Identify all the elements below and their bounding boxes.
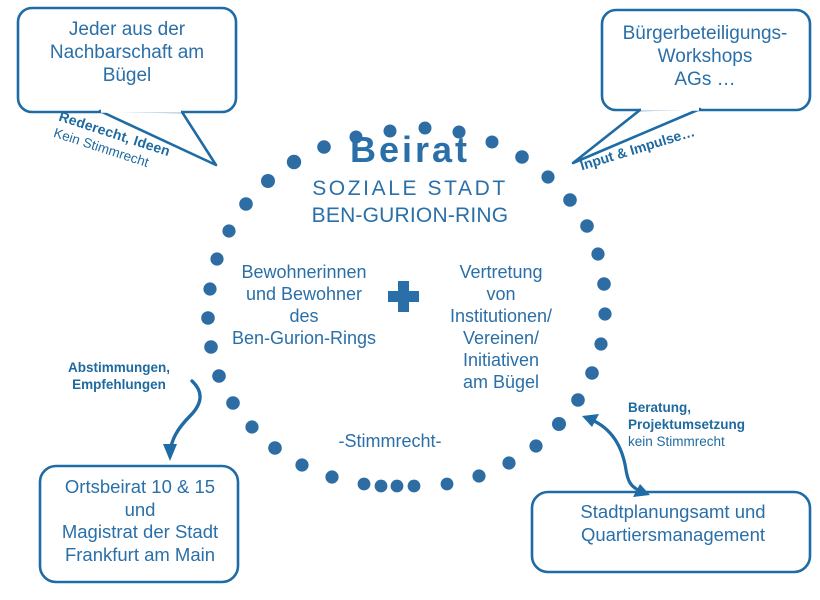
relation-label-bottom-right: Beratung, Projektumsetzung kein Stimmrec… bbox=[628, 400, 804, 451]
page-title: Beirat bbox=[250, 128, 570, 172]
callout-bottom-right-label: Stadtplanungsamt und Quartiersmanagement bbox=[538, 501, 808, 546]
relation-label-bottom-right-line2: Projektumsetzung bbox=[628, 417, 804, 434]
diagram-canvas: Jeder aus der Nachbarschaft am Bügel Bür… bbox=[0, 0, 820, 600]
subtitle-ben-gurion-ring: BEN-GURION-RING bbox=[250, 203, 570, 229]
callout-bottom-left-label: Ortsbeirat 10 & 15 und Magistrat der Sta… bbox=[44, 476, 236, 566]
relation-label-bottom-right-normal: kein Stimmrecht bbox=[628, 434, 804, 451]
relation-label-bottom-left: Abstimmungen, Empfehlungen bbox=[44, 360, 194, 394]
relation-label-bottom-right-line1: Beratung, bbox=[628, 400, 804, 417]
voting-right-note: -Stimmrecht- bbox=[300, 431, 480, 453]
callout-top-left-label: Jeder aus der Nachbarschaft am Bügel bbox=[24, 18, 230, 88]
subtitle-soziale-stadt: SOZIALE STADT bbox=[250, 176, 570, 202]
callout-top-right-label: Bürgerbeteiligungs- Workshops AGs … bbox=[606, 22, 804, 92]
plus-icon bbox=[388, 281, 419, 312]
member-group-institutions: Vertretung von Institutionen/ Vereinen/ … bbox=[428, 262, 574, 394]
member-group-residents: Bewohnerinnen und Bewohner des Ben-Gurio… bbox=[216, 262, 392, 350]
